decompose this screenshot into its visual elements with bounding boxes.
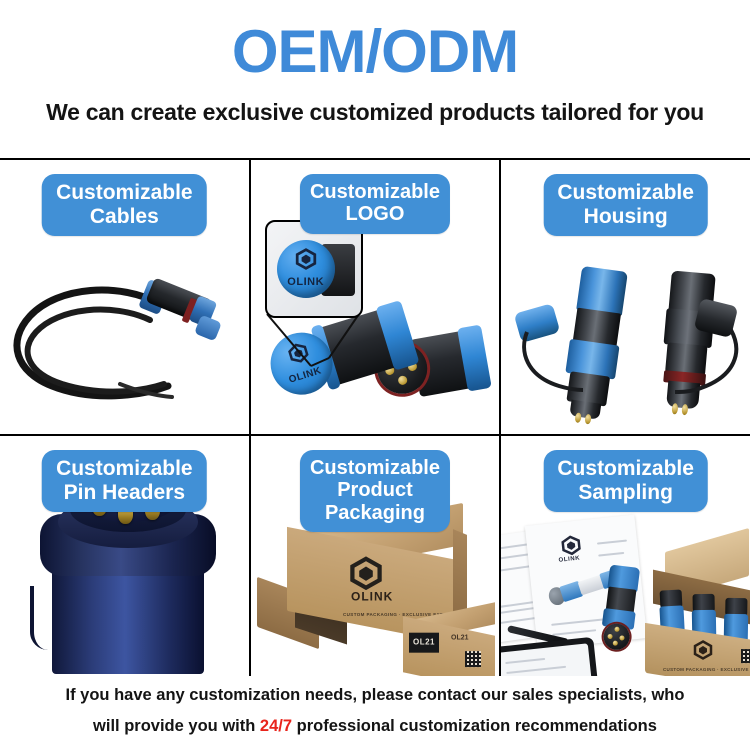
badge-cables: Customizable Cables [42, 174, 207, 236]
blue-cap-tether [511, 328, 591, 396]
footer-line-2: will provide you with 24/7 professional … [93, 718, 657, 735]
olink-logo-icon [560, 534, 582, 556]
badge-pin-headers: Customizable Pin Headers [42, 450, 207, 512]
qr-code-icon [465, 651, 481, 667]
olink-logo-icon [349, 556, 383, 590]
badge-housing: Customizable Housing [543, 174, 708, 236]
feature-grid: Customizable Cables Customizab [0, 158, 750, 676]
olink-logo-icon [295, 248, 317, 270]
footer-line-1: If you have any customization needs, ple… [66, 687, 685, 704]
pin-header-cable [30, 586, 60, 650]
grid-cell-sampling[interactable]: Customizable Sampling OLINK [501, 436, 750, 676]
footer-line-2-after: professional customization recommendatio… [292, 717, 657, 735]
badge-product-packaging: Customizable Product Packaging [300, 450, 450, 532]
callout-brand-text: OLINK [287, 276, 324, 288]
olink-logo-icon [693, 640, 713, 660]
grid-cell-housing[interactable]: Customizable Housing [501, 160, 750, 434]
pin [585, 414, 592, 425]
banner-footer: If you have any customization needs, ple… [0, 672, 750, 750]
connector-a-brand-text: OLINK [287, 366, 322, 386]
pin [672, 403, 679, 414]
cable-illustration [0, 246, 249, 432]
callout-branded-cap: OLINK [277, 240, 335, 298]
grid-cell-cables[interactable]: Customizable Cables [0, 160, 249, 434]
grid-cell-pin-headers[interactable]: Customizable Pin Headers [0, 436, 249, 676]
page-title: OEM/ODM [232, 22, 518, 82]
grid-cell-product-packaging[interactable]: Customizable Product Packaging OLINK CUS… [251, 436, 500, 676]
page-subtitle: We can create exclusive customized produ… [46, 99, 704, 126]
pin [397, 375, 407, 385]
small-box-label: OL21 [413, 638, 435, 647]
tablet-device [501, 637, 600, 676]
banner-header: OEM/ODM We can create exclusive customiz… [0, 0, 750, 158]
pin [575, 412, 582, 423]
grid-cell-logo[interactable]: Customizable LOGO OLINK [251, 160, 500, 434]
badge-logo: Customizable LOGO [300, 174, 450, 234]
footer-highlight-247: 24/7 [260, 717, 292, 735]
sample-connector [592, 564, 648, 655]
promo-banner: OEM/ODM We can create exclusive customiz… [0, 0, 750, 750]
black-cap-tether [669, 326, 749, 398]
qr-code-icon [741, 649, 750, 663]
box-brand-text: OLINK [351, 589, 393, 603]
footer-line-2-before: will provide you with [93, 717, 260, 735]
pin [682, 404, 689, 415]
catalog-brand-text: OLINK [559, 555, 581, 563]
open-sample-box: CUSTOM PACKAGING · EXCLUSIVE EXPERIENCE [647, 540, 750, 676]
badge-sampling: Customizable Sampling [543, 450, 708, 512]
olink-logo-icon [285, 340, 310, 365]
small-box-side-label: OL21 [451, 634, 469, 641]
small-box-label-plate: OL21 [409, 633, 439, 653]
logo-callout-box: OLINK [265, 220, 363, 318]
